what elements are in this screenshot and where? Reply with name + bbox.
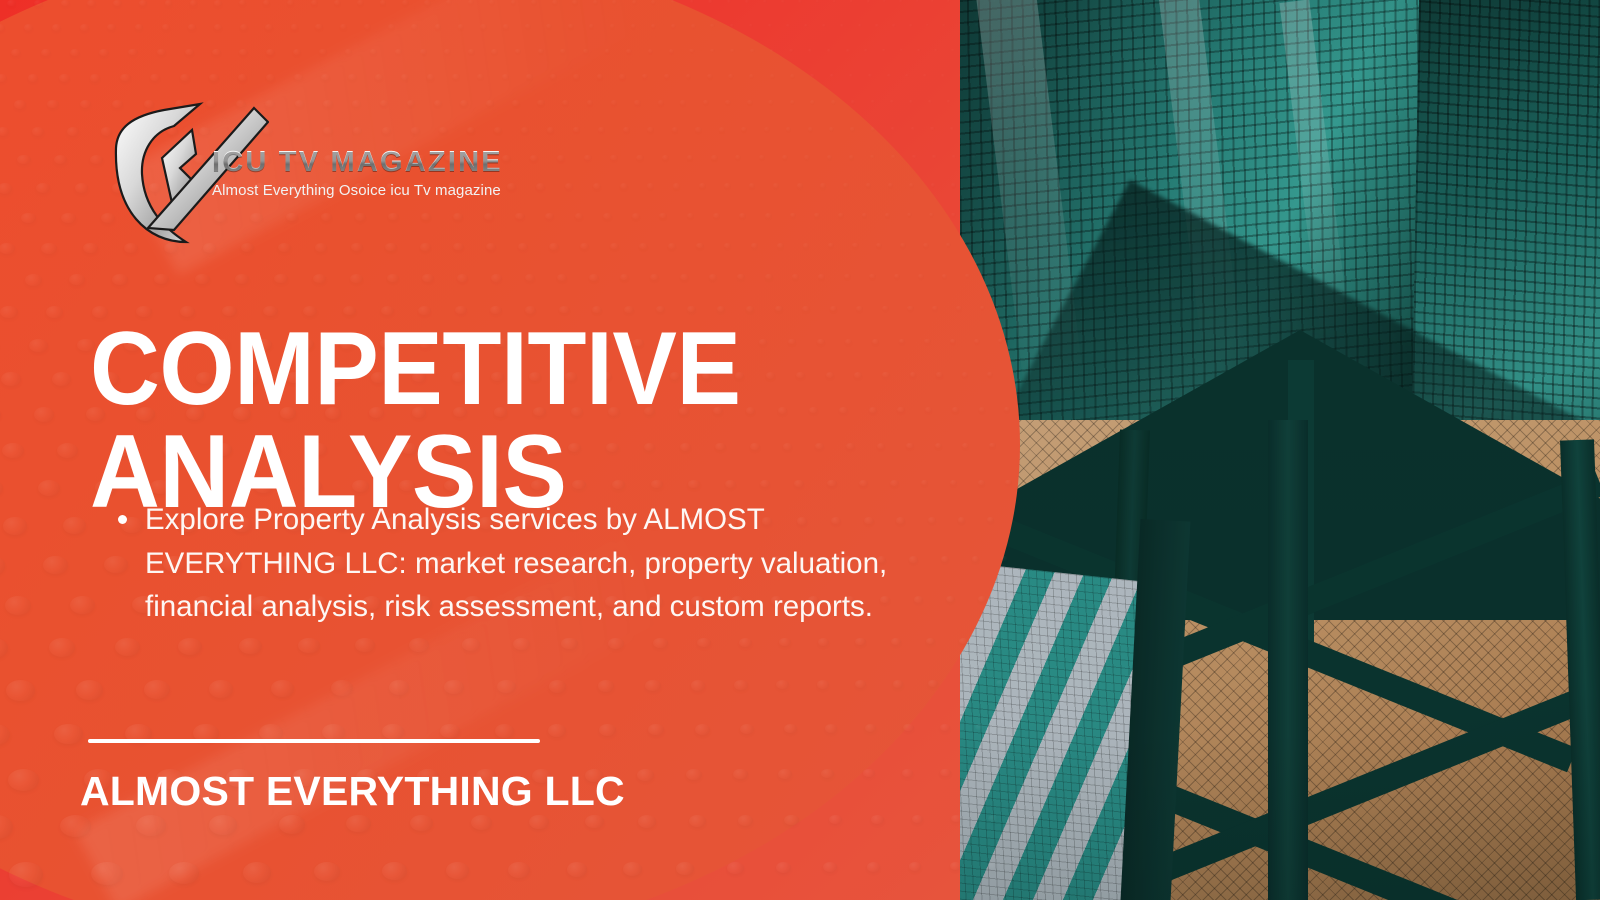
brand-logo-tagline: Almost Everything Osoice icu Tv magazine (212, 182, 503, 199)
brand-logo[interactable]: ICU TV MAGAZINE Almost Everything Osoice… (104, 96, 574, 246)
list-item: Explore Property Analysis services by AL… (112, 498, 942, 629)
poster-content: ICU TV MAGAZINE Almost Everything Osoice… (0, 0, 1600, 900)
brand-logo-title: ICU TV MAGAZINE (212, 146, 503, 179)
brand-logo-text: ICU TV MAGAZINE Almost Everything Osoice… (212, 146, 503, 199)
description-bullet-list: Explore Property Analysis services by AL… (112, 498, 942, 629)
company-name: ALMOST EVERYTHING LLC (80, 768, 625, 815)
page-title: COMPETITIVE ANALYSIS (90, 318, 862, 524)
divider-line (88, 739, 540, 743)
poster-canvas: ICU TV MAGAZINE Almost Everything Osoice… (0, 0, 1600, 900)
page-title-line-1: COMPETITIVE (90, 311, 740, 427)
